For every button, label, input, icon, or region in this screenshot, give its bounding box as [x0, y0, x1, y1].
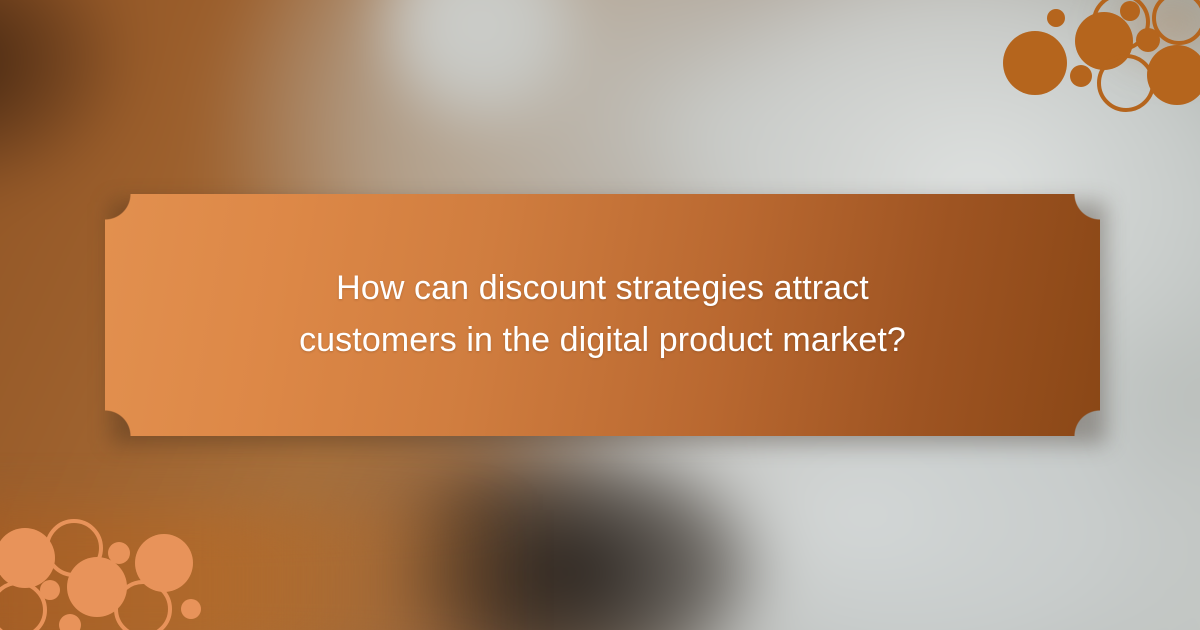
decorative-circle-filled [181, 599, 201, 619]
quote-card: How can discount strategies attract cust… [105, 194, 1100, 436]
quote-line-2: customers in the digital product market? [165, 315, 1041, 367]
decorative-circle-filled [1120, 1, 1140, 21]
quote-line-1: How can discount strategies attract [165, 263, 1041, 315]
decorative-circle-outline [114, 580, 172, 630]
decorative-circle-filled [1003, 31, 1067, 95]
decorative-circle-filled [1147, 45, 1200, 105]
decorative-circle-outline [1097, 54, 1155, 112]
decorative-circle-filled [1070, 65, 1092, 87]
quote-card-canvas: How can discount strategies attract cust… [0, 0, 1200, 630]
decorative-circles-bottom-left [0, 510, 230, 630]
decorative-circle-filled [1047, 9, 1065, 27]
quote-text: How can discount strategies attract cust… [165, 263, 1041, 366]
decorative-circles-top-right [990, 0, 1200, 120]
decorative-circle-filled [59, 614, 81, 630]
